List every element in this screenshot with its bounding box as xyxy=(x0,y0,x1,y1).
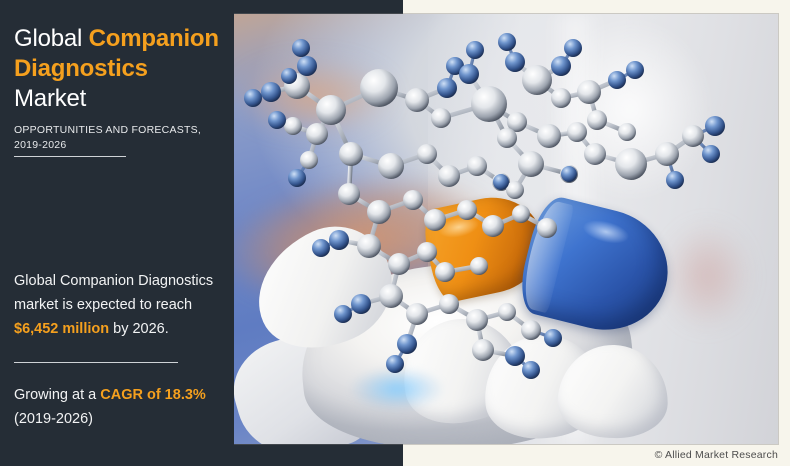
hero-image xyxy=(231,14,778,444)
cagr-statement: Growing at a CAGR of 18.3% (2019-2026) xyxy=(14,383,230,431)
glove-blue-glow xyxy=(337,361,456,418)
divider-top xyxy=(14,156,126,157)
text-column: Global Companion Diagnostics Market OPPO… xyxy=(0,0,234,466)
market-value-statement: Global Companion Diagnostics market is e… xyxy=(14,269,226,341)
infographic-canvas: Global Companion Diagnostics Market OPPO… xyxy=(0,0,790,466)
cagr-text-before: Growing at a xyxy=(14,387,100,403)
title-line-1: Global Companion xyxy=(14,24,230,54)
cagr-value: CAGR of 18.3% xyxy=(100,387,206,403)
title-accent-companion: Companion xyxy=(89,25,219,52)
stat-text-after: by 2026. xyxy=(109,321,169,337)
page-title: Global Companion Diagnostics Market xyxy=(14,24,230,114)
hero-image-inner xyxy=(231,14,778,444)
title-plain-global: Global xyxy=(14,25,89,52)
title-line-2: Diagnostics xyxy=(14,54,230,84)
stat-text-before: Global Companion Diagnostics market is e… xyxy=(14,273,213,313)
copyright-credit: © Allied Market Research xyxy=(655,449,778,461)
subtitle: OPPORTUNITIES AND FORECASTS, 2019-2026 xyxy=(14,123,224,153)
stat-value: $6,452 million xyxy=(14,321,109,337)
blurred-forearm-2 xyxy=(231,48,406,143)
title-line-3: Market xyxy=(14,84,230,114)
divider-bottom xyxy=(14,362,178,363)
cagr-text-after: (2019-2026) xyxy=(14,411,93,427)
